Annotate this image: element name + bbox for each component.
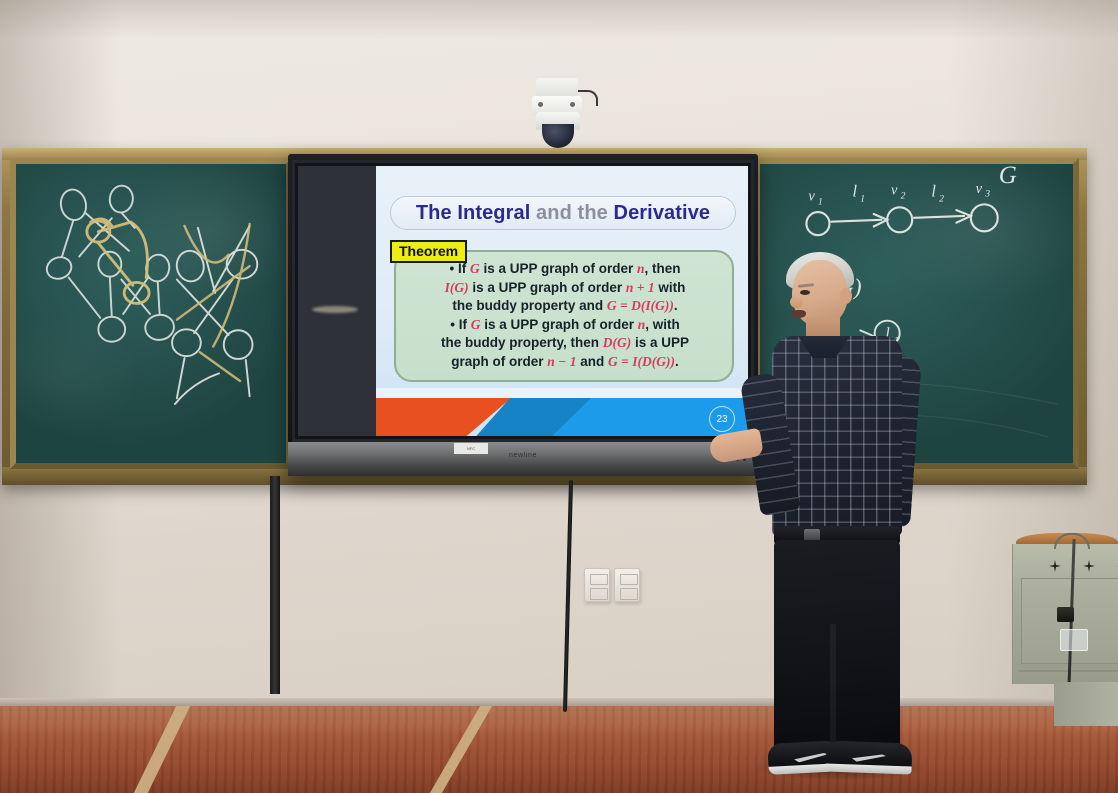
- svg-text:v: v: [808, 189, 815, 205]
- math-symbol: n − 1: [547, 354, 576, 369]
- math-symbol: D(G): [603, 335, 632, 350]
- presenter-ear: [840, 288, 852, 304]
- camera-screw: [570, 102, 575, 107]
- display-mount-post: [270, 476, 280, 694]
- chalkboard-left[interactable]: [10, 158, 292, 469]
- presenter-eye: [800, 290, 810, 295]
- presenter-mouth: [791, 310, 806, 318]
- wall-outlets[interactable]: [584, 568, 640, 602]
- camera-screw: [538, 102, 543, 107]
- theorem-text: is a UPP graph of order: [480, 317, 637, 332]
- theorem-text: .: [675, 354, 679, 369]
- wall-outlet[interactable]: [614, 568, 640, 602]
- svg-text:3: 3: [984, 189, 990, 200]
- shoe-logo-icon: [794, 753, 828, 763]
- display-brand-logo: newline: [509, 452, 537, 459]
- theorem-text: is a UPP graph of order: [469, 280, 626, 295]
- math-symbol: n + 1: [626, 280, 655, 295]
- theorem-text: , with: [645, 317, 680, 332]
- chalk-drawing-left: [16, 164, 286, 463]
- page-title: The Integral and the Derivative: [416, 202, 710, 225]
- presenter-trousers: [774, 540, 900, 750]
- theorem-statement-list: • If G is a UPP graph of order n, thenI(…: [400, 260, 730, 372]
- theorem-text: is a UPP graph of order: [480, 261, 637, 276]
- theorem-text: If: [458, 261, 470, 276]
- bullet-dot-icon: •: [449, 261, 457, 276]
- theorem-line: I(G) is a UPP graph of order n + 1 with: [400, 279, 730, 297]
- math-symbol: n: [637, 261, 645, 276]
- math-symbol: G = D(I(G)): [607, 298, 674, 313]
- display-panel[interactable]: The Integral and the Derivative Theorem …: [298, 166, 748, 436]
- svg-text:2: 2: [901, 191, 906, 202]
- star-icon: [1083, 560, 1095, 572]
- theorem-text: the buddy property, then: [441, 335, 603, 350]
- theorem-line: the buddy property, then D(G) is a UPP: [400, 334, 730, 352]
- theorem-text: If: [459, 317, 471, 332]
- math-symbol: G = I(D(G)): [608, 354, 675, 369]
- lectern-base: [1054, 682, 1118, 726]
- title-part-1: The Integral: [416, 202, 531, 224]
- presenter-nose: [790, 296, 803, 308]
- presenter-shoe: [826, 741, 913, 774]
- display-letterbox: [298, 166, 376, 436]
- theorem-text: with: [655, 280, 686, 295]
- svg-text:G: G: [999, 164, 1017, 189]
- slide-title-box: The Integral and the Derivative: [390, 196, 736, 230]
- presentation-slide[interactable]: The Integral and the Derivative Theorem …: [376, 166, 748, 436]
- theorem-text: , then: [645, 261, 681, 276]
- shoe-logo-icon: [852, 753, 886, 762]
- interactive-display[interactable]: The Integral and the Derivative Theorem …: [288, 154, 758, 476]
- slide-page-number: 23: [709, 406, 735, 432]
- theorem-text: the buddy property and: [452, 298, 607, 313]
- theorem-text: is a UPP: [631, 335, 689, 350]
- svg-text:l: l: [853, 182, 858, 201]
- math-symbol: I(G): [445, 280, 469, 295]
- theorem-line: the buddy property and G = D(I(G)).: [400, 297, 730, 315]
- bullet-dot-icon: •: [450, 317, 458, 332]
- star-icon: [1049, 560, 1061, 572]
- svg-text:1: 1: [818, 196, 823, 207]
- theorem-line: • If G is a UPP graph of order n, with: [400, 316, 730, 334]
- presenter: [744, 244, 954, 793]
- slide-footer: 23: [376, 398, 748, 436]
- presenter-leg-separation: [830, 624, 836, 750]
- svg-text:v: v: [891, 183, 898, 199]
- lectern[interactable]: [1012, 533, 1118, 713]
- theorem-badge: Theorem: [390, 240, 467, 263]
- microphone-pouch: [1060, 629, 1088, 651]
- display-chin: NFC newline: [288, 442, 758, 476]
- theorem-line: graph of order n − 1 and G = I(D(G)).: [400, 353, 730, 371]
- svg-text:l: l: [931, 182, 936, 201]
- svg-text:2: 2: [939, 193, 944, 204]
- display-bezel: The Integral and the Derivative Theorem …: [292, 160, 754, 442]
- lectern-star-decorations: [1049, 560, 1118, 572]
- footer-white-band: [376, 388, 748, 398]
- lecture-hall-scene: v1 l1 v2 l2 v3 G (G) l1: [0, 0, 1118, 793]
- theorem-text: graph of order: [451, 354, 547, 369]
- theorem-text: .: [674, 298, 678, 313]
- math-symbol: G: [470, 261, 480, 276]
- math-symbol: G: [471, 317, 481, 332]
- wall-outlet[interactable]: [584, 568, 610, 602]
- svg-text:v: v: [976, 181, 983, 197]
- title-part-2: and the: [530, 202, 613, 224]
- svg-text:1: 1: [860, 193, 865, 204]
- camera-dome: [542, 124, 574, 148]
- microphone-transmitter[interactable]: [1057, 607, 1074, 622]
- dome-security-camera-icon: [530, 78, 586, 150]
- theorem-text: and: [577, 354, 609, 369]
- title-part-3: Derivative: [614, 202, 711, 224]
- display-sensor-tag: NFC: [454, 443, 488, 454]
